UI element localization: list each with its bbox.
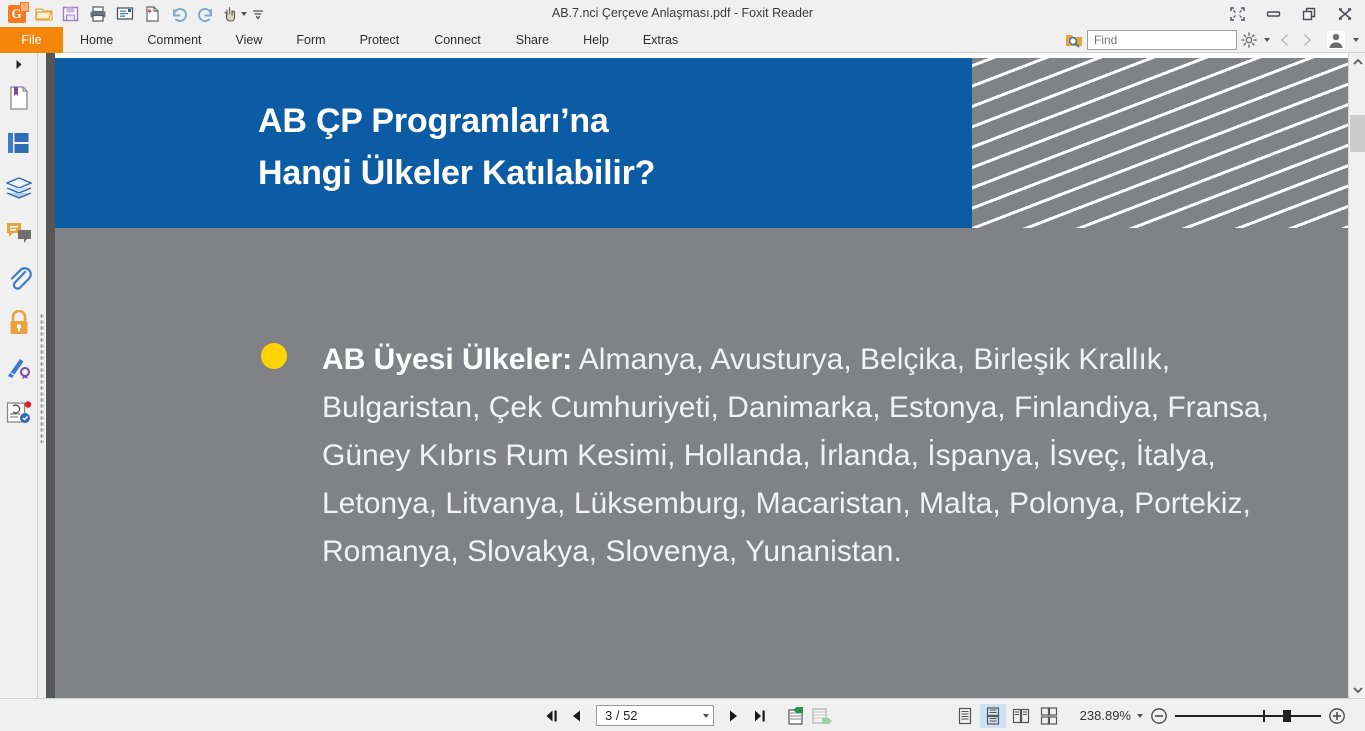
single-page-layout-button[interactable] <box>952 704 978 728</box>
slide-title-line1: AB ÇP Programları’na <box>258 96 948 148</box>
customize-toolbar-icon[interactable] <box>250 2 266 26</box>
redo-icon[interactable] <box>193 2 218 26</box>
page-number-box[interactable]: 3 / 52 <box>596 705 714 726</box>
vertical-scrollbar[interactable] <box>1348 53 1365 698</box>
status-bar: 3 / 52 <box>0 698 1365 731</box>
zoom-slider-thumb[interactable] <box>1283 710 1291 722</box>
bookmarks-icon[interactable] <box>0 75 38 120</box>
zoom-slider-tick <box>1263 710 1265 722</box>
banner-diagonal-stripes <box>972 58 1348 228</box>
menu-view[interactable]: View <box>219 27 280 53</box>
search-area <box>1063 27 1363 53</box>
fullscreen-button[interactable] <box>1219 1 1255 27</box>
navigation-panel <box>0 53 38 698</box>
slide-body: AB Üyesi Ülkeler: Almanya, Avusturya, Be… <box>258 336 1278 576</box>
hand-tool-dropdown-caret[interactable] <box>241 12 247 16</box>
undo-icon[interactable] <box>166 2 191 26</box>
expand-panel-icon[interactable] <box>0 53 38 75</box>
menu-form[interactable]: Form <box>279 27 342 53</box>
menu-protect-label: Protect <box>360 33 400 47</box>
minimize-button[interactable] <box>1255 1 1291 27</box>
zoom-level-label: 238.89% <box>1080 708 1131 723</box>
digital-signatures-icon[interactable] <box>0 345 38 390</box>
next-page-button[interactable] <box>722 705 744 727</box>
continuous-layout-button[interactable] <box>980 704 1006 728</box>
page-number-value: 3 / 52 <box>605 708 703 723</box>
create-pdf-icon[interactable] <box>139 2 164 26</box>
splitter-grip[interactable] <box>40 313 44 443</box>
menu-share-label: Share <box>516 33 549 47</box>
search-box[interactable] <box>1087 30 1237 50</box>
save-icon[interactable] <box>58 2 83 26</box>
stamp-icon[interactable] <box>0 390 38 435</box>
close-button[interactable] <box>1327 1 1363 27</box>
first-page-button[interactable] <box>540 705 562 727</box>
find-next-button[interactable] <box>1297 29 1317 51</box>
scroll-down-arrow[interactable] <box>1349 681 1365 698</box>
menu-comment-label: Comment <box>147 33 201 47</box>
extract-pages-icon[interactable] <box>810 704 834 728</box>
menu-help[interactable]: Help <box>566 27 626 53</box>
comments-icon[interactable] <box>0 210 38 255</box>
search-folder-icon[interactable] <box>1063 29 1085 51</box>
slide-title: AB ÇP Programları’na Hangi Ülkeler Katıl… <box>258 96 948 199</box>
zoom-slider-track <box>1175 715 1321 717</box>
menu-extras[interactable]: Extras <box>626 27 695 53</box>
account-dropdown-caret[interactable] <box>1349 29 1363 51</box>
last-page-button[interactable] <box>748 705 770 727</box>
bullet-body-text: Almanya, Avusturya, Belçika, Birleşik Kr… <box>322 343 1269 568</box>
scrollbar-thumb[interactable] <box>1350 115 1365 152</box>
layers-icon[interactable] <box>0 165 38 210</box>
menu-help-label: Help <box>583 33 609 47</box>
menu-item-list: File Home Comment View Form Protect Conn… <box>0 27 695 53</box>
restore-button[interactable] <box>1291 1 1327 27</box>
menu-comment[interactable]: Comment <box>130 27 218 53</box>
menu-home[interactable]: Home <box>63 27 130 53</box>
menu-extras-label: Extras <box>643 33 678 47</box>
facing-layout-button[interactable] <box>1008 704 1034 728</box>
scroll-up-arrow[interactable] <box>1349 53 1365 70</box>
account-avatar[interactable] <box>1325 30 1347 50</box>
zoom-in-button[interactable] <box>1327 706 1347 726</box>
slide-title-line2: Hangi Ülkeler Katılabilir? <box>258 148 948 200</box>
zoom-dropdown-caret[interactable] <box>1137 714 1143 718</box>
foxit-logo-letter: G <box>8 5 26 23</box>
zoom-out-button[interactable] <box>1149 706 1169 726</box>
title-bar: G <box>0 0 1365 27</box>
page-dropdown-caret[interactable] <box>703 714 709 718</box>
find-previous-button[interactable] <box>1275 29 1295 51</box>
slide-banner: AB ÇP Programları’na Hangi Ülkeler Katıl… <box>55 58 1348 228</box>
document-viewport[interactable]: AB ÇP Programları’na Hangi Ülkeler Katıl… <box>46 53 1348 698</box>
settings-gear-icon[interactable] <box>1239 29 1259 51</box>
bullet-lead-label: AB Üyesi Ülkeler: <box>322 343 572 376</box>
page-thumbnails-icon[interactable] <box>0 120 38 165</box>
previous-page-button[interactable] <box>566 705 588 727</box>
bullet-item: AB Üyesi Ülkeler: Almanya, Avusturya, Be… <box>258 336 1278 576</box>
hand-tool-icon[interactable] <box>220 2 248 26</box>
menu-view-label: View <box>236 33 263 47</box>
menu-protect[interactable]: Protect <box>343 27 417 53</box>
panel-splitter[interactable] <box>38 53 46 698</box>
foxit-logo-icon[interactable]: G <box>4 2 29 26</box>
view-controls: 238.89% <box>952 699 1347 731</box>
page-navigation: 3 / 52 <box>540 699 834 731</box>
menu-file-label: File <box>21 33 41 47</box>
continuous-facing-layout-button[interactable] <box>1036 704 1062 728</box>
zoom-slider[interactable] <box>1175 706 1321 726</box>
attachments-icon[interactable] <box>0 255 38 300</box>
menu-home-label: Home <box>80 33 113 47</box>
insert-pages-icon[interactable] <box>782 704 806 728</box>
menu-file[interactable]: File <box>0 27 63 53</box>
quick-access-toolbar: G <box>4 1 266 26</box>
security-icon[interactable] <box>0 300 38 345</box>
foxit-reader-window: G <box>0 0 1365 731</box>
search-input[interactable] <box>1094 33 1249 47</box>
settings-dropdown-caret[interactable] <box>1261 29 1273 51</box>
pdf-page: AB ÇP Programları’na Hangi Ülkeler Katıl… <box>55 53 1348 698</box>
print-icon[interactable] <box>85 2 110 26</box>
bullet-text: AB Üyesi Ülkeler: Almanya, Avusturya, Be… <box>322 336 1278 576</box>
window-controls <box>1219 0 1363 27</box>
bullet-marker-icon <box>261 343 287 369</box>
open-icon[interactable] <box>31 2 56 26</box>
menu-bar: File Home Comment View Form Protect Conn… <box>0 27 1365 53</box>
email-icon[interactable] <box>112 2 137 26</box>
menu-form-label: Form <box>296 33 325 47</box>
menu-connect[interactable]: Connect <box>416 27 499 53</box>
menu-connect-label: Connect <box>434 33 481 47</box>
menu-share[interactable]: Share <box>499 27 566 53</box>
